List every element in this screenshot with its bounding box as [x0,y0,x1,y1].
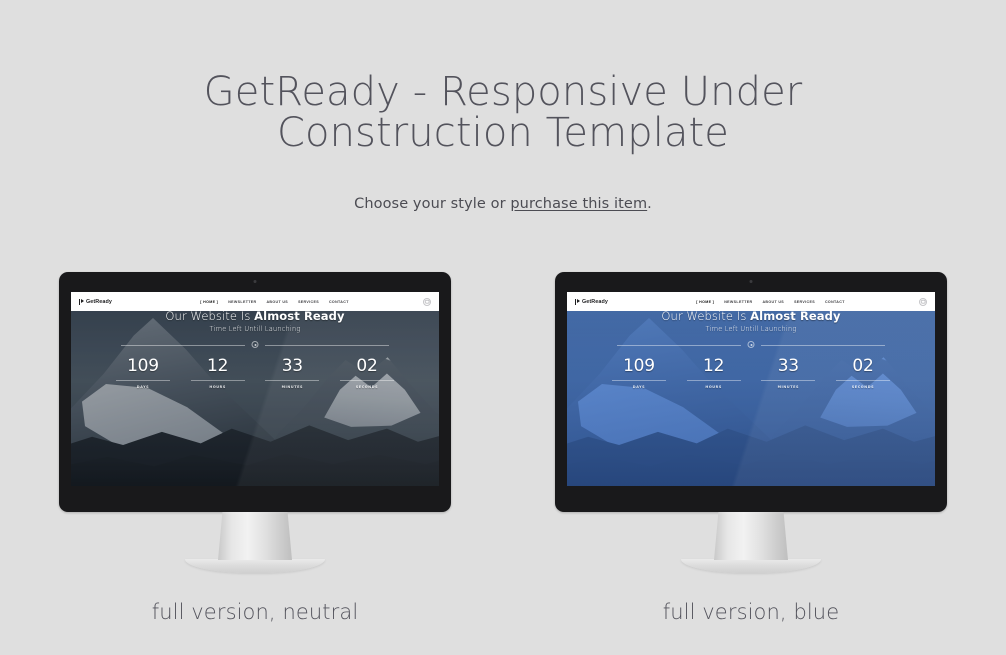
countdown-seconds: 02 SECONDS [334,357,400,389]
hero-title-light: Our Website Is [661,309,750,323]
countdown-hours-value: 12 [185,357,251,376]
purchase-this-item-link[interactable]: purchase this item [510,196,647,212]
countdown-rule [116,380,170,381]
monitor-frame: GetReady [ HOME ] NEWSLETTER ABOUT US SE… [555,272,947,512]
webcam-icon [254,280,257,283]
hero-title: Our Website Is Almost Ready [567,310,935,323]
countdown-days-label: DAYS [110,385,176,389]
subtitle-text-before: Choose your style or [354,196,510,212]
countdown-seconds-value: 02 [334,357,400,376]
page-title: GetReady - Responsive Under Construction… [153,72,853,154]
countdown-seconds-label: SECONDS [334,385,400,389]
countdown-timer: 109 DAYS 12 HOURS 33 MINUTES [110,357,400,389]
countdown-hours-value: 12 [681,357,747,376]
countdown-minutes: 33 MINUTES [755,357,821,389]
countdown-days-label: DAYS [606,385,672,389]
monitor-caption-blue: full version, blue [663,600,840,624]
countdown-minutes-value: 33 [755,357,821,376]
page-subtitle: Choose your style or purchase this item. [0,196,1006,212]
countdown-rule [687,380,741,381]
countdown-seconds: 02 SECONDS [830,357,896,389]
monitor-stand-base [185,559,325,573]
countdown-rule [265,380,319,381]
countdown-rule [340,380,394,381]
countdown-hours: 12 HOURS [185,357,251,389]
countdown-seconds-label: SECONDS [830,385,896,389]
monitor-frame: GetReady [ HOME ] NEWSLETTER ABOUT US SE… [59,272,451,512]
hero-content: Our Website Is Almost Ready Time Left Un… [71,292,439,486]
countdown-hours-label: HOURS [681,385,747,389]
webcam-icon [750,280,753,283]
divider-dot-icon [748,341,755,348]
hero-subtitle: Time Left Untill Launching [71,325,439,333]
monitor-blue[interactable]: GetReady [ HOME ] NEWSLETTER ABOUT US SE… [554,272,948,624]
hero-title-light: Our Website Is [165,309,254,323]
countdown-rule [612,380,666,381]
countdown-minutes-label: MINUTES [755,385,821,389]
countdown-days-value: 109 [110,357,176,376]
countdown-rule [836,380,890,381]
screen-preview-neutral[interactable]: GetReady [ HOME ] NEWSLETTER ABOUT US SE… [71,292,439,486]
countdown-seconds-value: 02 [830,357,896,376]
hero-divider [121,341,389,348]
countdown-minutes: 33 MINUTES [259,357,325,389]
monitor-gallery: GetReady [ HOME ] NEWSLETTER ABOUT US SE… [0,272,1006,624]
countdown-hours-label: HOURS [185,385,251,389]
countdown-hours: 12 HOURS [681,357,747,389]
countdown-days: 109 DAYS [606,357,672,389]
subtitle-text-after: . [647,196,652,212]
countdown-minutes-label: MINUTES [259,385,325,389]
countdown-days-value: 109 [606,357,672,376]
divider-dot-icon [252,341,259,348]
countdown-days: 109 DAYS [110,357,176,389]
hero-subtitle: Time Left Untill Launching [567,325,935,333]
countdown-minutes-value: 33 [259,357,325,376]
screen-preview-blue[interactable]: GetReady [ HOME ] NEWSLETTER ABOUT US SE… [567,292,935,486]
page-header: GetReady - Responsive Under Construction… [0,0,1006,212]
hero-title-bold: Almost Ready [750,309,840,323]
monitor-stand-base [681,559,821,573]
monitor-stand-neck [218,512,292,560]
hero-title-bold: Almost Ready [254,309,344,323]
countdown-rule [191,380,245,381]
hero-content: Our Website Is Almost Ready Time Left Un… [567,292,935,486]
hero-title: Our Website Is Almost Ready [71,310,439,323]
countdown-rule [761,380,815,381]
countdown-timer: 109 DAYS 12 HOURS 33 MINUTES [606,357,896,389]
monitor-stand-neck [714,512,788,560]
hero-divider [617,341,885,348]
monitor-caption-neutral: full version, neutral [152,600,359,624]
monitor-neutral[interactable]: GetReady [ HOME ] NEWSLETTER ABOUT US SE… [58,272,452,624]
